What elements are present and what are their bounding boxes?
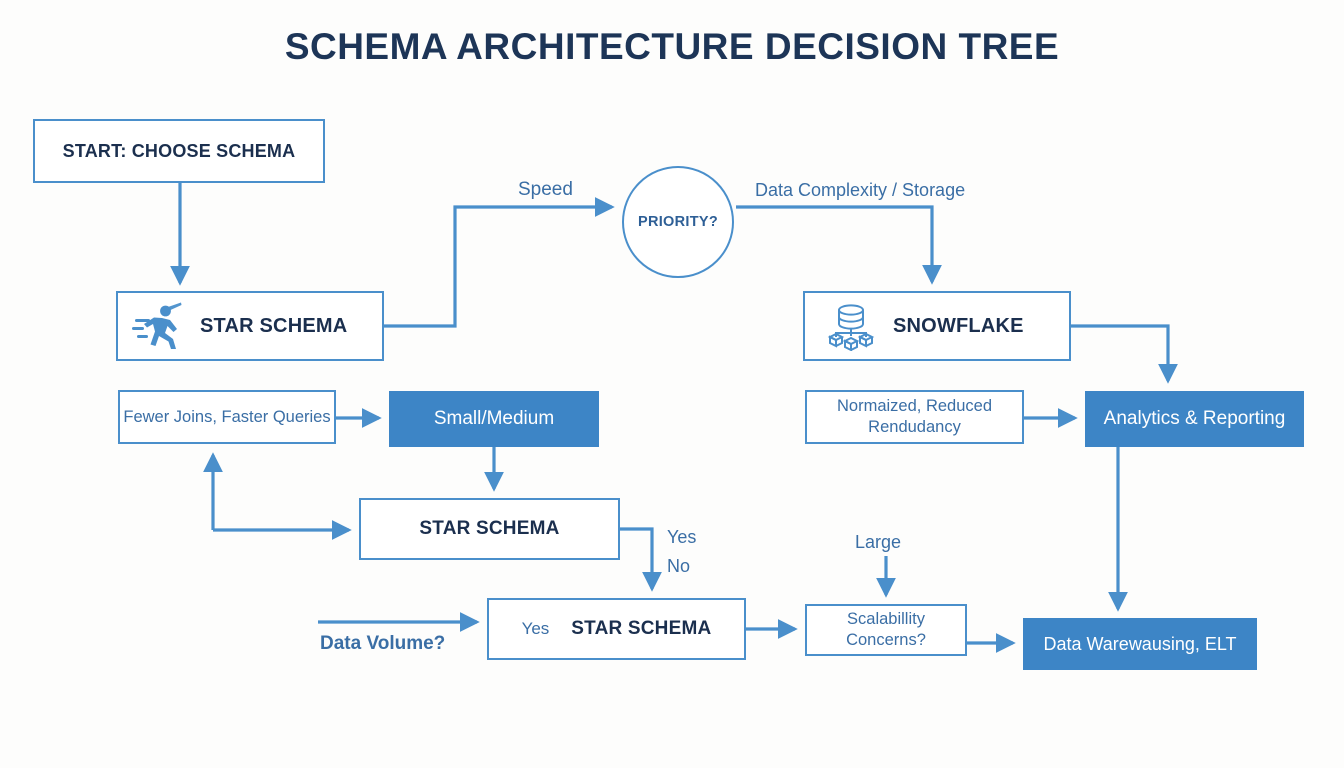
edge-star2-to-star3 [620,529,652,589]
node-start-label: START: CHOOSE SCHEMA [63,141,296,162]
node-analytics-reporting-label: Analytics & Reporting [1104,408,1286,430]
node-fewer-joins-label: Fewer Joins, Faster Queries [123,407,330,428]
node-snowflake[interactable]: SNOWFLAKE [803,291,1071,361]
node-priority-label: PRIORITY? [638,214,718,230]
node-start[interactable]: START: CHOOSE SCHEMA [33,119,325,183]
node-scalability-concerns[interactable]: Scalabillity Concerns? [805,604,967,656]
node-star-schema-2-label: STAR SCHEMA [419,518,559,540]
edge-label-large: Large [855,532,901,553]
edge-label-data-volume: Data Volume? [320,633,445,655]
node-scalability-concerns-label: Scalabillity Concerns? [807,609,965,650]
node-star-schema-1-label: STAR SCHEMA [200,315,347,338]
diagram-canvas: SCHEMA ARCHITECTURE DECISION TREE [0,0,1344,768]
node-small-medium-label: Small/Medium [434,408,554,430]
running-person-icon [132,302,186,350]
node-star-schema-2[interactable]: STAR SCHEMA [359,498,620,560]
node-data-warehousing-label: Data Warewausing, ELT [1043,634,1236,655]
node-star-schema-3-prefix: Yes [522,619,550,639]
node-small-medium[interactable]: Small/Medium [389,391,599,447]
node-star-schema-3[interactable]: Yes STAR SCHEMA [487,598,746,660]
page-title: SCHEMA ARCHITECTURE DECISION TREE [0,26,1344,68]
edge-label-data-complexity: Data Complexity / Storage [755,180,965,201]
node-snowflake-label: SNOWFLAKE [893,315,1024,338]
edge-star1-to-priority [384,207,612,326]
node-star-schema-3-label: STAR SCHEMA [571,618,711,640]
edge-label-yes: Yes [667,527,696,548]
edge-priority-to-snowflake [736,207,932,282]
node-normalized[interactable]: Normaized, Reduced Rendudancy [805,390,1024,444]
node-analytics-reporting[interactable]: Analytics & Reporting [1085,391,1304,447]
edge-label-speed: Speed [518,179,573,201]
edge-label-no: No [667,556,690,577]
node-priority[interactable]: PRIORITY? [622,166,734,278]
node-normalized-label: Normaized, Reduced Rendudancy [807,396,1022,437]
node-star-schema-1[interactable]: STAR SCHEMA [116,291,384,361]
edge-snowflake-to-analytics [1071,326,1168,381]
node-data-warehousing[interactable]: Data Warewausing, ELT [1023,618,1257,670]
database-nodes-icon [823,301,875,351]
node-fewer-joins[interactable]: Fewer Joins, Faster Queries [118,390,336,444]
